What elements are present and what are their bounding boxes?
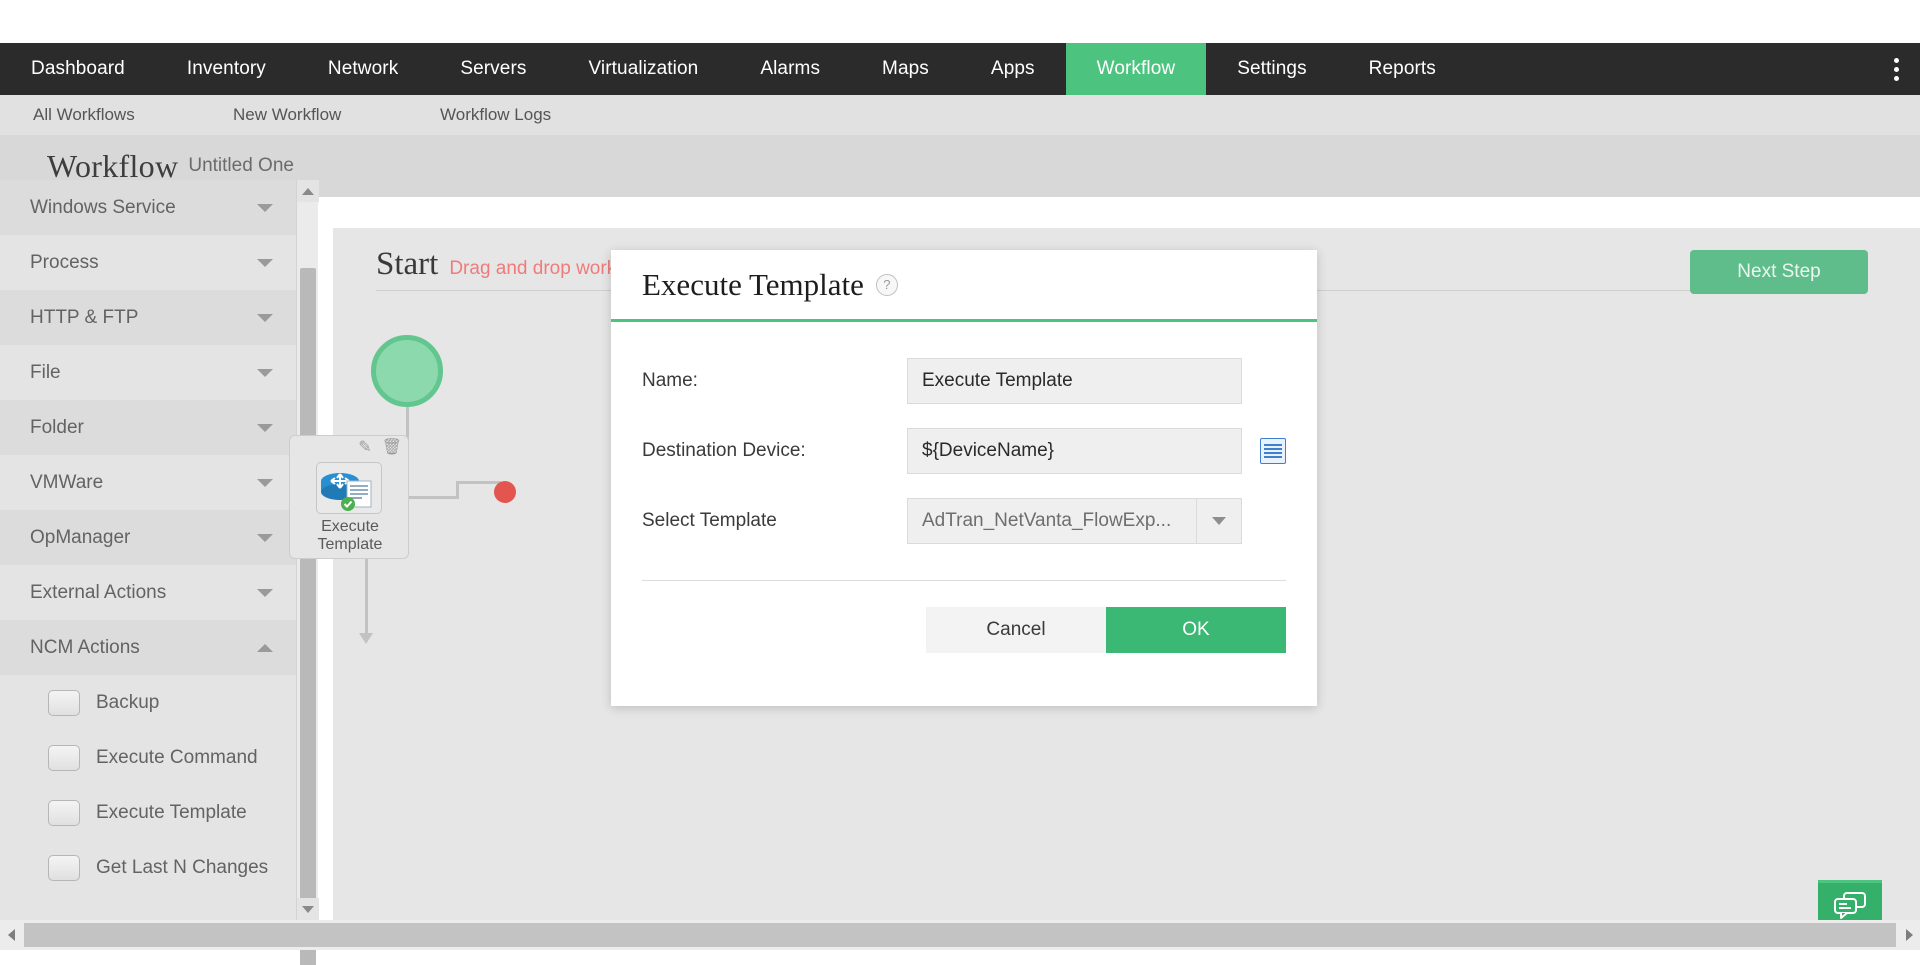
node-label-line1: Execute: [321, 518, 379, 535]
chat-bubbles-icon: [1833, 891, 1867, 919]
action-handle-icon: [48, 800, 80, 826]
list-picker-icon[interactable]: [1260, 438, 1286, 464]
sidebar-group-label: Windows Service: [30, 197, 176, 219]
actions-sidebar: Windows Service Process HTTP & FTP File …: [0, 180, 318, 920]
sidebar-group-label: VMWare: [30, 472, 103, 494]
cancel-button[interactable]: Cancel: [926, 607, 1106, 653]
triangle-up-icon: [302, 188, 314, 195]
chevron-down-icon: [257, 314, 273, 322]
select-template-value: AdTran_NetVanta_FlowExp...: [908, 510, 1196, 532]
horizontal-scrollbar[interactable]: [0, 920, 1920, 950]
select-template-label: Select Template: [642, 510, 907, 532]
sidebar-action-label: Backup: [96, 692, 159, 714]
workflow-node-label: Execute Template: [290, 518, 410, 555]
nav-item-apps[interactable]: Apps: [960, 43, 1066, 95]
sidebar-group-file[interactable]: File: [0, 345, 318, 400]
scroll-left-button[interactable]: [0, 920, 22, 950]
sidebar-scroll-thumb[interactable]: [300, 268, 316, 965]
sidebar-group-windows-service[interactable]: Windows Service: [0, 180, 318, 235]
connector-segment: [409, 496, 459, 499]
sidebar-action-label: Execute Template: [96, 802, 247, 824]
destination-device-input[interactable]: [907, 428, 1242, 474]
subnav-item-all-workflows[interactable]: All Workflows: [33, 95, 135, 135]
chevron-down-icon: [257, 534, 273, 542]
sidebar-group-http-ftp[interactable]: HTTP & FTP: [0, 290, 318, 345]
chevron-down-icon: [257, 204, 273, 212]
chevron-up-icon: [257, 644, 273, 652]
connector-arrow-icon: [359, 633, 373, 644]
node-label-line2: Template: [318, 536, 383, 553]
chevron-down-icon: [257, 259, 273, 267]
field-row-select-template: Select Template AdTran_NetVanta_FlowExp.…: [642, 498, 1286, 544]
scroll-up-button[interactable]: [297, 180, 319, 202]
nav-item-settings[interactable]: Settings: [1206, 43, 1337, 95]
name-input[interactable]: [907, 358, 1242, 404]
dialog-header: Execute Template ?: [611, 250, 1317, 322]
dialog-body: Name: Destination Device: Select Templat…: [611, 322, 1317, 544]
top-navigation: Dashboard Inventory Network Servers Virt…: [0, 43, 1920, 95]
sidebar-action-execute-command[interactable]: Execute Command: [0, 730, 318, 785]
sidebar-group-label: NCM Actions: [30, 637, 140, 659]
field-row-destination-device: Destination Device:: [642, 428, 1286, 474]
sidebar-group-label: Folder: [30, 417, 84, 439]
nav-item-maps[interactable]: Maps: [851, 43, 960, 95]
sidebar-group-label: HTTP & FTP: [30, 307, 138, 329]
sidebar-action-label: Get Last N Changes: [96, 857, 268, 879]
sidebar-action-execute-template[interactable]: Execute Template: [0, 785, 318, 840]
triangle-left-icon: [8, 929, 15, 941]
nav-item-inventory[interactable]: Inventory: [156, 43, 297, 95]
more-vertical-icon[interactable]: [1872, 43, 1920, 95]
nav-item-dashboard[interactable]: Dashboard: [0, 43, 156, 95]
horizontal-scroll-thumb[interactable]: [24, 923, 1896, 947]
connector-segment: [365, 559, 368, 637]
sidebar-group-process[interactable]: Process: [0, 235, 318, 290]
sidebar-group-external-actions[interactable]: External Actions: [0, 565, 318, 620]
sidebar-action-label: Execute Command: [96, 747, 258, 769]
execute-template-dialog: Execute Template ? Name: Destination Dev…: [611, 250, 1317, 706]
chevron-down-icon: [257, 369, 273, 377]
select-template-dropdown[interactable]: AdTran_NetVanta_FlowExp...: [907, 498, 1242, 544]
workflow-failure-node[interactable]: [494, 481, 516, 503]
sidebar-group-label: Process: [30, 252, 99, 274]
app-root: Dashboard Inventory Network Servers Virt…: [0, 0, 1920, 965]
next-step-button[interactable]: Next Step: [1690, 250, 1868, 294]
chevron-down-icon[interactable]: [1196, 499, 1241, 543]
chevron-down-icon: [257, 424, 273, 432]
destination-device-label: Destination Device:: [642, 440, 907, 462]
sidebar-group-label: OpManager: [30, 527, 130, 549]
scroll-right-button[interactable]: [1898, 920, 1920, 950]
sidebar-group-opmanager[interactable]: OpManager: [0, 510, 318, 565]
router-template-icon: [316, 462, 382, 514]
pencil-icon[interactable]: ✎: [358, 440, 371, 456]
nav-item-workflow[interactable]: Workflow: [1066, 43, 1207, 95]
triangle-down-icon: [302, 906, 314, 913]
action-handle-icon: [48, 855, 80, 881]
sub-navigation: All Workflows New Workflow Workflow Logs: [0, 95, 1920, 135]
field-row-name: Name:: [642, 358, 1286, 404]
subnav-item-workflow-logs[interactable]: Workflow Logs: [440, 95, 551, 135]
sidebar-group-folder[interactable]: Folder: [0, 400, 318, 455]
triangle-right-icon: [1906, 929, 1913, 941]
node-toolbar: ✎ 🗑: [358, 440, 402, 456]
subnav-item-new-workflow[interactable]: New Workflow: [233, 95, 341, 135]
nav-item-network[interactable]: Network: [297, 43, 429, 95]
trash-icon[interactable]: 🗑: [382, 440, 402, 456]
help-icon[interactable]: ?: [876, 274, 898, 296]
dialog-actions: Cancel OK: [611, 581, 1317, 653]
workflow-start-node[interactable]: [371, 335, 443, 407]
nav-item-virtualization[interactable]: Virtualization: [557, 43, 729, 95]
sidebar-group-ncm-actions[interactable]: NCM Actions: [0, 620, 318, 675]
sidebar-group-label: External Actions: [30, 582, 166, 604]
action-handle-icon: [48, 745, 80, 771]
workflow-node-execute-template[interactable]: ✎ 🗑 Execute: [289, 435, 409, 559]
nav-item-reports[interactable]: Reports: [1338, 43, 1467, 95]
sidebar-group-label: File: [30, 362, 61, 384]
scroll-down-button[interactable]: [297, 898, 319, 920]
sidebar-action-backup[interactable]: Backup: [0, 675, 318, 730]
sidebar-action-get-last-n-changes[interactable]: Get Last N Changes: [0, 840, 318, 895]
ok-button[interactable]: OK: [1106, 607, 1286, 653]
connector-segment: [456, 481, 501, 484]
nav-item-servers[interactable]: Servers: [429, 43, 557, 95]
nav-item-alarms[interactable]: Alarms: [729, 43, 851, 95]
chevron-down-icon: [257, 589, 273, 597]
canvas-start-label: Start: [376, 246, 438, 283]
dialog-title: Execute Template: [642, 267, 864, 303]
sidebar-group-vmware[interactable]: VMWare: [0, 455, 318, 510]
workflow-name: Untitled One: [188, 155, 294, 177]
name-label: Name:: [642, 370, 907, 392]
page-title: Workflow: [47, 148, 178, 185]
chevron-down-icon: [257, 479, 273, 487]
action-handle-icon: [48, 690, 80, 716]
